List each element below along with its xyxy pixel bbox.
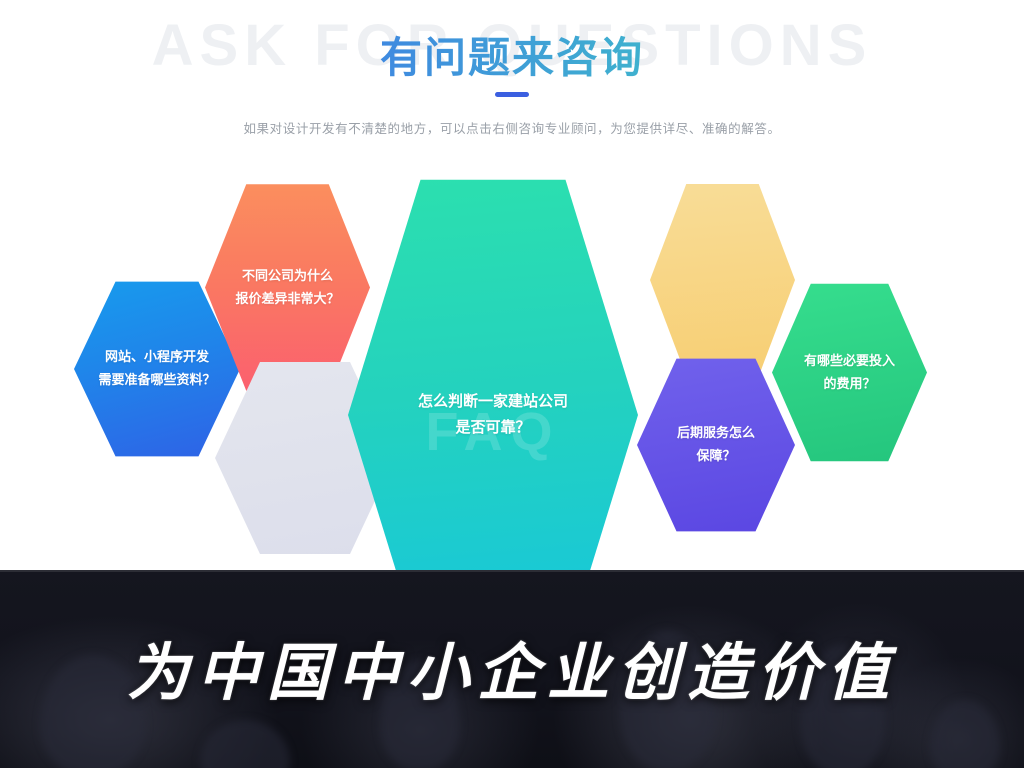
hex-decoration-yellow (650, 180, 795, 380)
hex-card-line1: 有哪些必要投入 (804, 350, 895, 373)
faq-page: ASK FOR QUESTIONS 有问题来咨询 如果对设计开发有不清楚的地方，… (0, 0, 1024, 768)
hex-card-line1: 后期服务怎么 (677, 422, 755, 445)
hex-card-line2: 是否可靠？ (418, 415, 568, 441)
hex-card-line1: 网站、小程序开发 (98, 346, 215, 369)
hex-card-line2: 保障？ (677, 445, 755, 468)
hex-card-text: 不同公司为什么 报价差异非常大？ (235, 265, 339, 311)
page-title: 有问题来咨询 (0, 24, 1024, 85)
hex-card-line1: 不同公司为什么 (235, 265, 339, 288)
banner-slogan: 为中国中小企业创造价值 (0, 622, 1024, 712)
hexagon-cluster: 网站、小程序开发 需要准备哪些资料？ 不同公司为什么 报价差异非常大？ FAQ … (0, 150, 1024, 570)
hex-card-text: 怎么判断一家建站公司 是否可靠？ (418, 389, 568, 442)
hex-card-line2: 的费用？ (804, 373, 895, 396)
title-underline-divider (495, 92, 529, 97)
page-header: ASK FOR QUESTIONS 有问题来咨询 如果对设计开发有不清楚的地方，… (0, 0, 1024, 150)
hex-card-text: 有哪些必要投入 的费用？ (804, 350, 895, 396)
page-subtitle: 如果对设计开发有不清楚的地方，可以点击右侧咨询专业顾问，为您提供详尽、准确的解答… (0, 118, 1024, 137)
bottom-banner: 为中国中小企业创造价值 (0, 570, 1024, 768)
hex-card-text: 网站、小程序开发 需要准备哪些资料？ (98, 346, 215, 392)
hex-card-text: 后期服务怎么 保障？ (677, 422, 755, 468)
hex-card-necessary-costs[interactable]: 有哪些必要投入 的费用？ (772, 280, 927, 465)
hex-card-line2: 报价差异非常大？ (235, 288, 339, 311)
hex-card-after-sales-service[interactable]: 后期服务怎么 保障？ (637, 355, 795, 535)
hex-card-line2: 需要准备哪些资料？ (98, 369, 215, 392)
hex-card-line1: 怎么判断一家建站公司 (418, 389, 568, 415)
